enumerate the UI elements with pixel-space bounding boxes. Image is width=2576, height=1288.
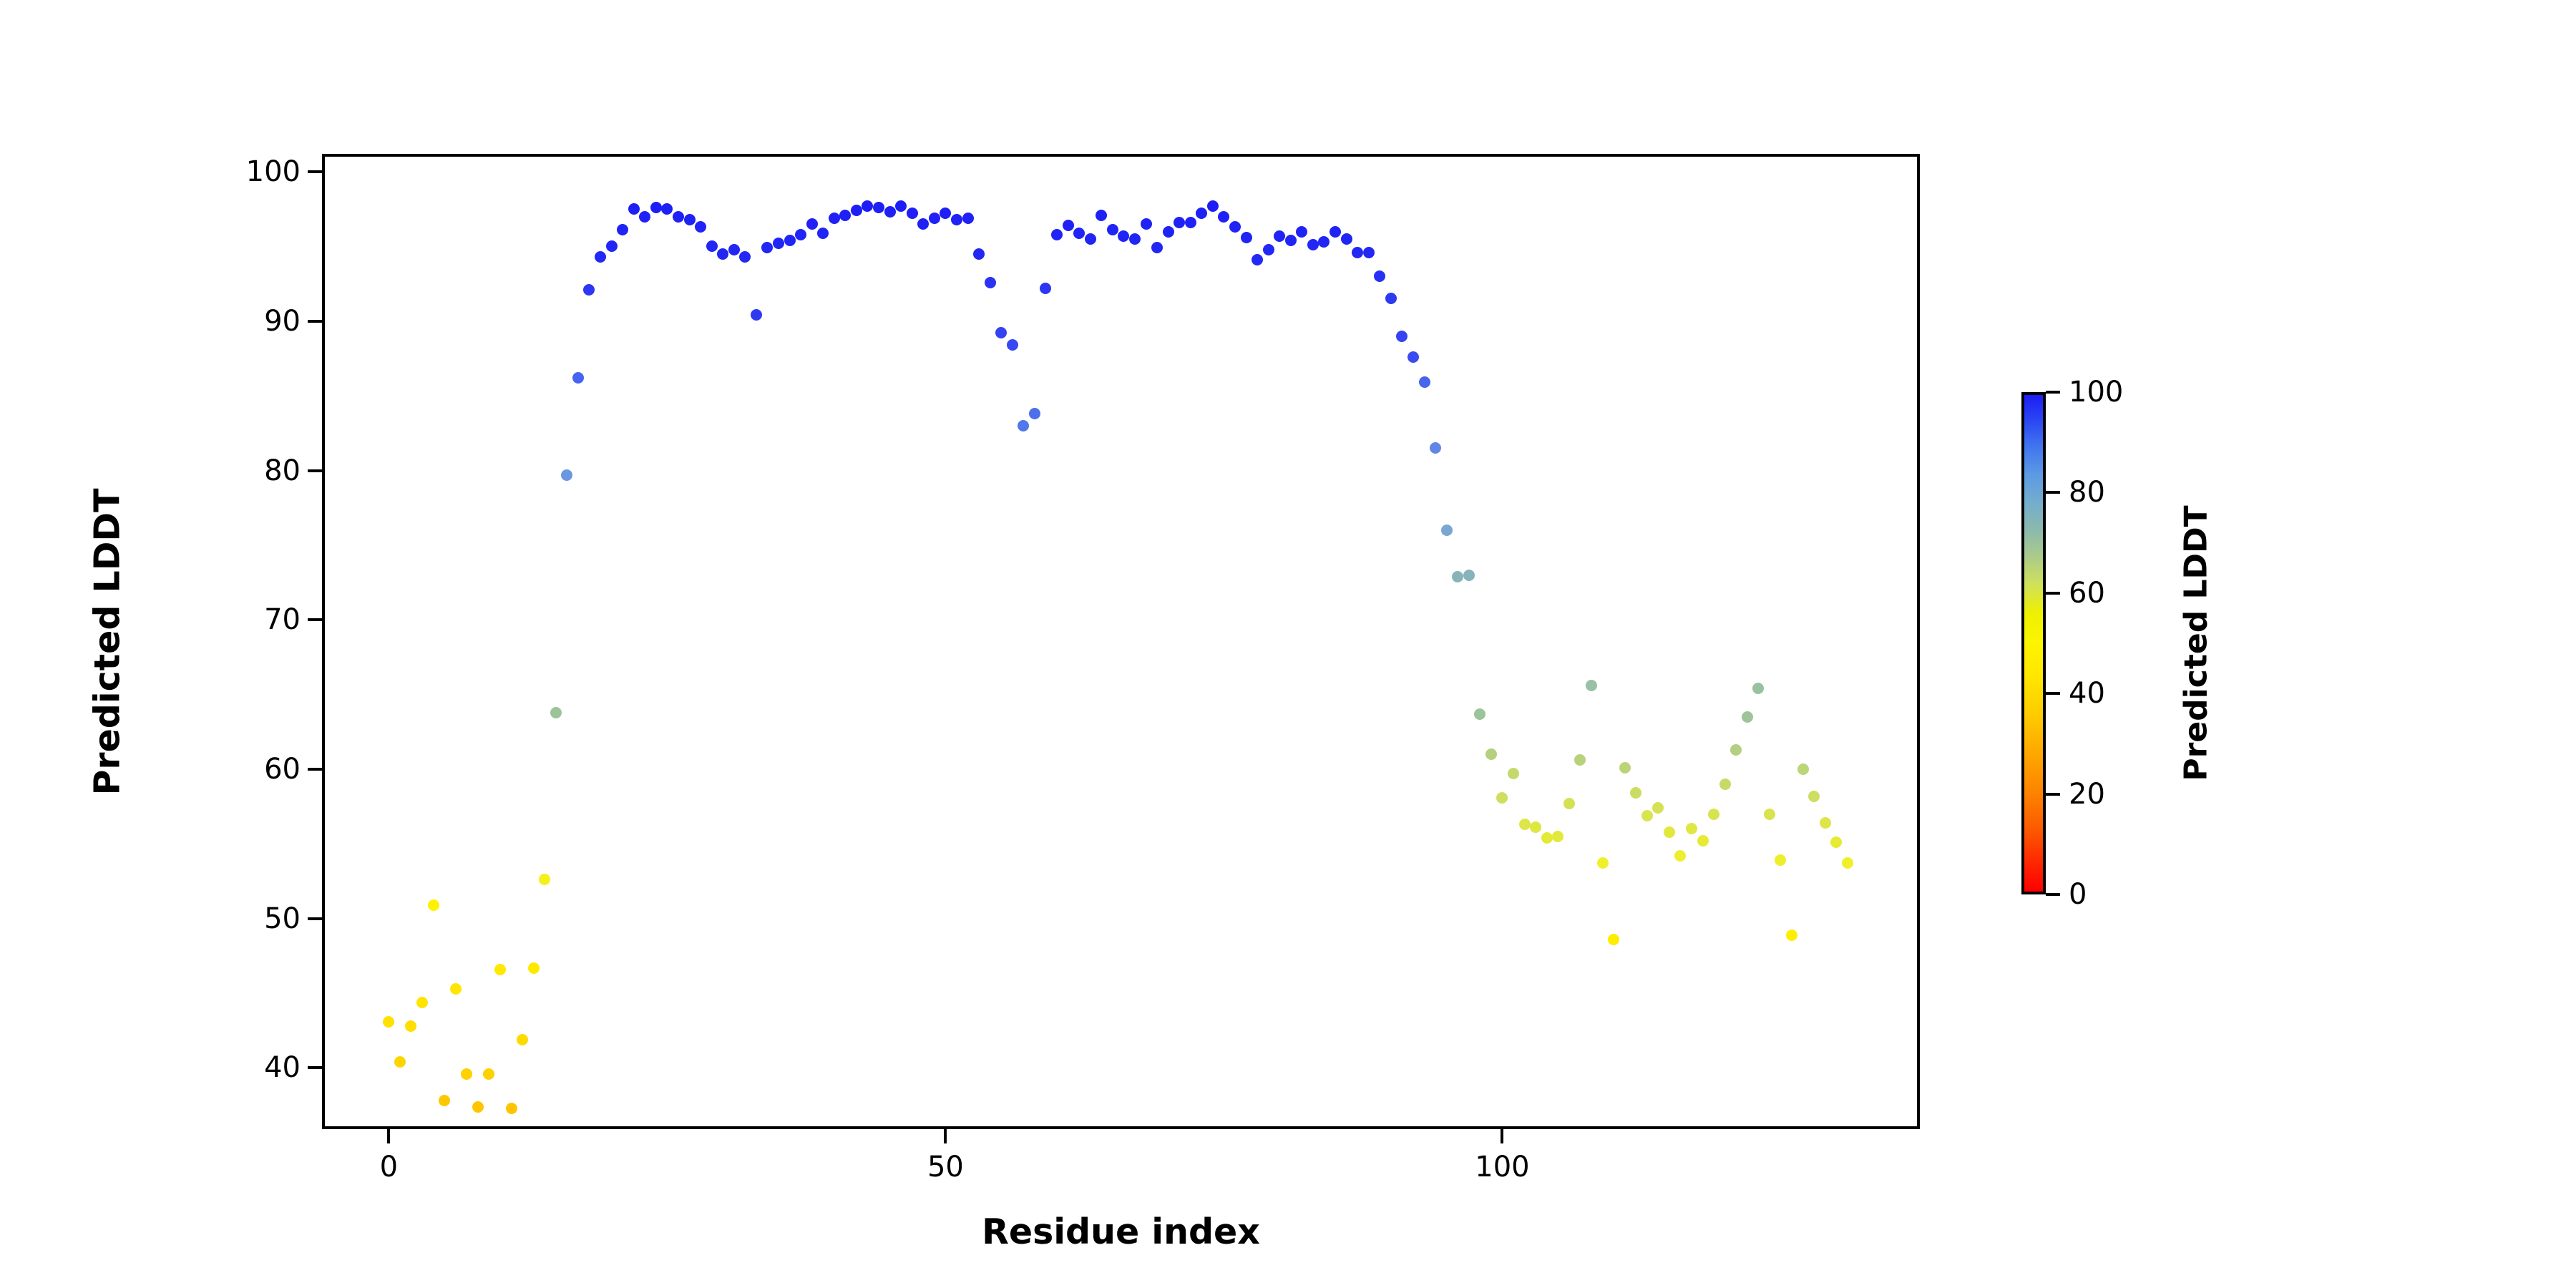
scatter-point [1752,683,1764,694]
colorbar-tick-mark [2046,793,2060,796]
x-tick-mark [1501,1129,1503,1143]
y-tick-label: 40 [165,1051,301,1084]
scatter-point [873,202,884,213]
scatter-point [439,1095,450,1106]
scatter-point [751,309,762,321]
y-tick-label: 70 [165,603,301,636]
scatter-point [1029,408,1040,419]
scatter-point [839,210,851,221]
scatter-point [951,214,962,225]
scatter-point [1730,744,1742,756]
scatter-point [1552,831,1563,842]
colorbar-tick-mark [2046,592,2060,595]
scatter-point [1664,826,1675,838]
y-tick-mark [308,320,322,323]
scatter-point [1407,351,1419,363]
scatter-point [773,238,784,249]
scatter-point [650,202,662,213]
scatter-point [1063,220,1074,231]
scatter-point [1196,208,1207,219]
scatter-point [494,964,506,975]
scatter-point [561,469,572,481]
scatter-point [1141,218,1152,230]
scatter-point [706,240,718,252]
scatter-point [617,224,628,235]
scatter-point [539,874,550,885]
scatter-point [1129,233,1141,245]
y-tick-label: 90 [165,305,301,338]
colorbar-tick-mark [2046,491,2060,494]
scatter-point [1452,571,1463,582]
colorbar-tick-mark [2046,692,2060,695]
scatter-point [595,251,606,263]
scatter-point [1697,835,1709,847]
scatter-point [461,1068,472,1080]
scatter-point [1296,226,1307,238]
colorbar-tick-label: 40 [2069,677,2105,710]
scatter-point [394,1056,406,1068]
scatter-point [695,221,706,233]
scatter-point [661,203,673,215]
y-tick-mark [308,170,322,173]
scatter-point [1652,802,1664,814]
scatter-point [450,983,462,995]
scatter-point [416,997,428,1008]
x-tick-mark [387,1129,390,1143]
scatter-point [1274,230,1285,242]
scatter-point [917,218,929,230]
scatter-point [550,707,562,718]
scatter-point [1040,283,1051,294]
scatter-point [506,1103,517,1114]
x-tick-label: 50 [927,1151,964,1184]
scatter-point [428,899,439,911]
scatter-point [717,248,728,260]
scatter-point [1508,768,1519,779]
scatter-point [1597,857,1609,869]
scatter-point [1786,930,1797,941]
colorbar-tick-label: 80 [2069,476,2105,509]
colorbar-gradient [2021,392,2046,894]
scatter-point [784,235,796,246]
scatter-point [483,1068,494,1080]
y-tick-mark [308,768,322,771]
scatter-point [1151,242,1163,253]
scatter-point [1775,854,1786,866]
scatter-point [1808,791,1820,802]
colorbar-tick-mark [2046,391,2060,394]
scatter-point [795,229,806,240]
scatter-point [728,244,740,255]
scatter-point [1207,200,1219,212]
scatter-point [1007,339,1018,351]
scatter-point [639,211,650,223]
y-tick-mark [308,469,322,472]
scatter-point [1519,819,1531,830]
scatter-point [929,213,940,224]
scatter-point [606,240,618,252]
scatter-point [1307,239,1319,250]
scatter-point [895,200,907,212]
scatter-point [1118,230,1129,242]
colorbar [2021,392,2046,894]
scatter-point [1352,247,1363,258]
plot-area [322,154,1920,1129]
scatter-point [1285,235,1297,246]
scatter-point [1218,211,1229,223]
scatter-point [973,248,985,260]
scatter-point [517,1034,528,1045]
scatter-point [739,251,751,263]
y-tick-mark [308,618,322,621]
x-tick-label: 100 [1475,1151,1529,1184]
x-tick-mark [944,1129,947,1143]
scatter-point [1541,832,1553,844]
scatter-point [1419,376,1430,388]
scatter-point [1574,754,1586,766]
scatter-point [1430,442,1441,454]
scatter-point [1719,779,1731,790]
colorbar-tick-mark [2046,893,2060,896]
scatter-point [1842,857,1853,869]
scatter-point [1318,236,1330,248]
figure-canvas: Predicted LDDT Residue index Predicted L… [0,0,2576,1288]
scatter-point [405,1020,416,1032]
scatter-point [1341,233,1352,245]
scatter-point [1463,570,1475,581]
scatter-point [962,213,974,224]
scatter-point [985,277,996,288]
y-tick-label: 100 [165,155,301,188]
scatter-point [907,208,918,219]
scatter-point [1229,221,1241,233]
y-tick-mark [308,917,322,920]
scatter-point [995,327,1007,338]
scatter-point [806,218,818,230]
scatter-point [1674,850,1686,862]
scatter-point [1363,247,1375,258]
scatter-point [628,203,640,215]
scatter-point [1051,229,1063,240]
scatter-point [1096,210,1107,221]
scatter-point [1374,270,1385,282]
scatter-point [1563,798,1575,809]
scatter-point [1163,226,1174,238]
scatter-point [1608,934,1619,945]
y-tick-label: 80 [165,454,301,487]
scatter-point [673,211,684,223]
scatter-point [1586,680,1597,691]
scatter-point [1797,763,1809,775]
scatter-point [472,1101,484,1113]
x-tick-label: 0 [380,1151,398,1184]
colorbar-tick-label: 100 [2069,376,2123,409]
scatter-point [1619,762,1631,774]
scatter-point [1107,224,1118,235]
scatter-point [1385,293,1397,304]
scatter-point [851,205,862,216]
scatter-point [817,228,829,239]
scatter-point [862,200,873,212]
scatter-point [1474,708,1485,720]
colorbar-tick-label: 60 [2069,577,2105,610]
scatter-point [1820,817,1831,829]
scatter-point [1174,217,1185,228]
scatter-point [1018,420,1029,431]
colorbar-tick-label: 20 [2069,778,2105,811]
scatter-point [528,962,540,974]
scatter-point [940,208,951,219]
scatter-point [1263,244,1274,255]
scatter-point [1764,809,1775,820]
y-tick-label: 60 [165,753,301,786]
y-tick-mark [308,1066,322,1069]
scatter-point [1530,821,1541,833]
scatter-point [1742,711,1753,723]
scatter-point [1185,217,1196,228]
scatter-point [1252,254,1263,265]
scatter-point [761,242,773,253]
scatter-point [383,1016,394,1028]
scatter-point [1241,232,1252,243]
scatter-point [1641,810,1653,821]
scatter-point [572,372,584,384]
scatter-point [1686,823,1697,834]
scatter-point [684,214,696,225]
scatter-point [1330,226,1341,238]
scatter-point [829,213,840,224]
scatter-point [1496,792,1508,804]
scatter-point [1830,836,1842,848]
y-tick-label: 50 [165,902,301,935]
scatter-point [1708,809,1719,820]
y-axis-title: Predicted LDDT [87,488,128,795]
scatter-point [1085,233,1096,245]
colorbar-title: Predicted LDDT [2178,505,2215,781]
colorbar-tick-label: 0 [2069,878,2087,911]
scatter-point [884,206,896,218]
scatter-point [1396,331,1407,342]
scatter-point [1485,748,1497,760]
scatter-point [1630,787,1641,799]
scatter-point [1073,228,1085,239]
scatter-point [583,284,595,296]
scatter-point [1441,525,1453,536]
x-axis-title: Residue index [982,1211,1260,1252]
